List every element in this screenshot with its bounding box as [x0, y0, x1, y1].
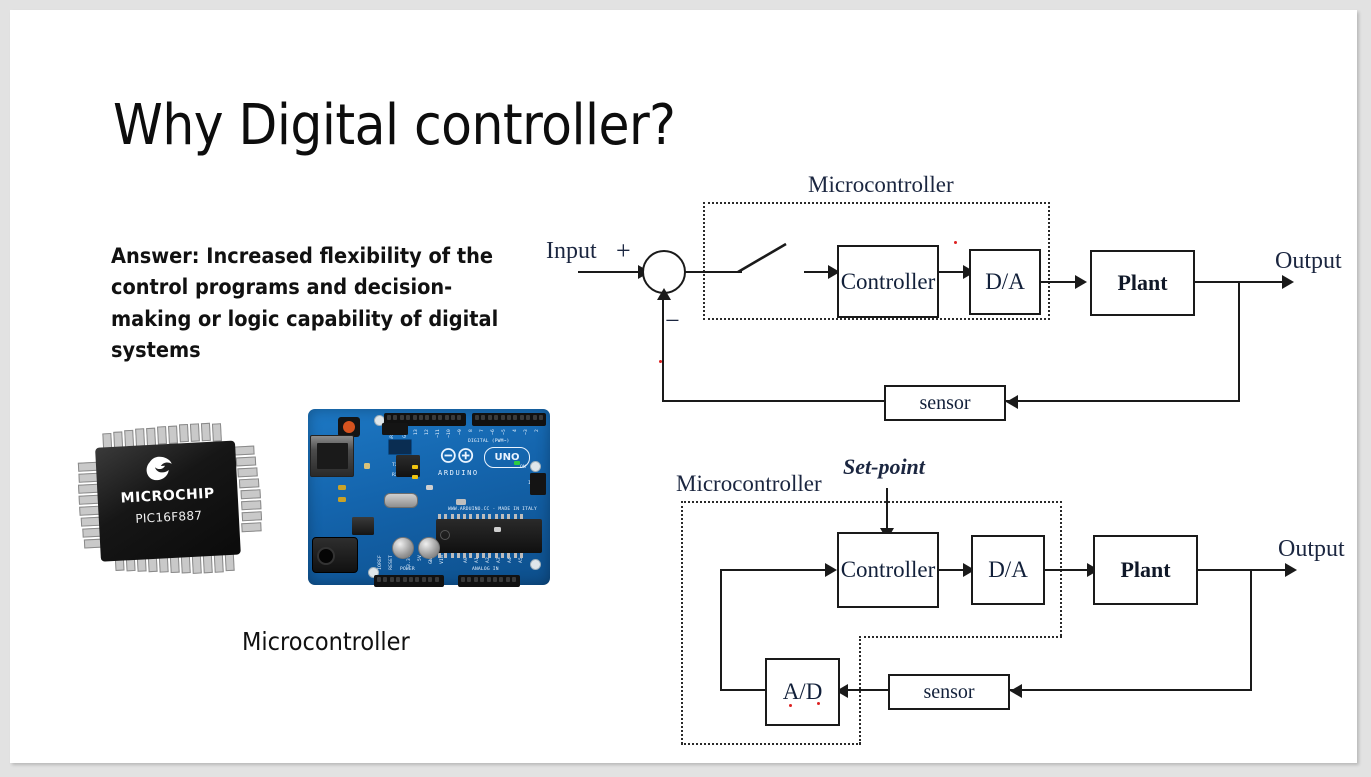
mcu-boundary-mid — [859, 636, 1062, 638]
sensor-input-wire — [1010, 689, 1252, 691]
controller-block: Controller — [837, 532, 939, 608]
ad-to-controller-wire — [720, 569, 828, 571]
microcontroller-label: Microcontroller — [676, 471, 822, 497]
mcu-boundary-left — [681, 501, 683, 744]
output-label: Output — [1278, 536, 1345, 563]
controller-input-arrowhead — [825, 563, 837, 577]
output-arrowhead — [1285, 563, 1297, 577]
sensor-to-ad-wire — [848, 689, 890, 691]
da-block: D/A — [971, 535, 1045, 605]
ad-output-wire — [720, 689, 767, 691]
stray-red-dot — [789, 704, 792, 707]
da-to-plant-wire — [1045, 569, 1093, 571]
plant-block: Plant — [1093, 535, 1198, 605]
stray-red-dot — [817, 702, 820, 705]
mcu-boundary-bottom — [681, 743, 861, 745]
output-tap-down-wire — [1250, 569, 1252, 691]
sensor-input-arrowhead — [1010, 684, 1022, 698]
setpoint-label: Set-point — [843, 454, 925, 480]
ad-block: A/D — [765, 658, 840, 726]
plant-to-output-wire — [1198, 569, 1292, 571]
block-diagram-digital-closed-loop: Microcontroller Set-point Controller D/A… — [10, 10, 1357, 763]
sensor-block: sensor — [888, 674, 1010, 710]
slide-canvas: Why Digital controller? Answer: Increase… — [10, 10, 1357, 763]
ad-feedback-up-wire — [720, 569, 722, 691]
mcu-boundary-top — [681, 501, 1062, 503]
setpoint-wire — [886, 488, 888, 530]
